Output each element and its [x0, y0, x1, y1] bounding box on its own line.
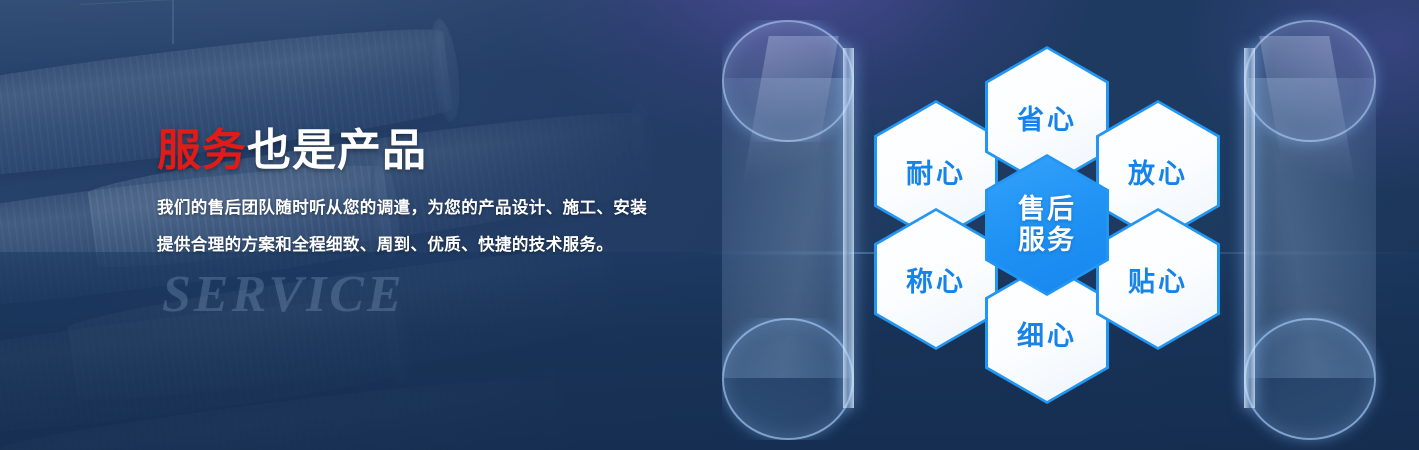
hexagon-label: 耐心: [906, 152, 966, 191]
hexagon-bottom-right[interactable]: 贴心: [1096, 208, 1220, 350]
hexagon-center-label: 售后服务: [1018, 194, 1076, 256]
subcopy-line-1: 我们的售后团队随时听从您的调遣，为您的产品设计、施工、安装: [157, 197, 727, 219]
hexagon-bottom-left[interactable]: 称心: [874, 208, 998, 350]
hexagon-center[interactable]: 售后服务: [985, 154, 1109, 296]
headline-highlight: 服务: [157, 126, 247, 175]
glass-cylinder-left: [700, 30, 880, 420]
hexagon-center-line-2: 服务: [1018, 225, 1076, 255]
page-title: 服务也是产品: [157, 126, 727, 175]
hexagon-label: 细心: [1017, 314, 1077, 353]
hexagon-label: 贴心: [1128, 260, 1188, 299]
subcopy: 我们的售后团队随时听从您的调遣，为您的产品设计、施工、安装 提供合理的方案和全程…: [157, 197, 727, 256]
headline-rest: 也是产品: [247, 126, 427, 175]
hexagon-label: 称心: [906, 260, 966, 299]
hexagon-center-line-1: 售后: [1018, 194, 1076, 224]
service-banner: 服务也是产品 我们的售后团队随时听从您的调遣，为您的产品设计、施工、安装 提供合…: [0, 0, 1419, 450]
hexagon-cluster: 耐心 称心 省心 细心 放心 贴心 售后服务: [874, 46, 1220, 404]
copy-block: 服务也是产品 我们的售后团队随时听从您的调遣，为您的产品设计、施工、安装 提供合…: [157, 126, 727, 270]
subcopy-line-2: 提供合理的方案和全程细致、周到、优质、快捷的技术服务。: [157, 234, 727, 256]
hexagon-label: 放心: [1128, 152, 1188, 191]
hexagon-label: 省心: [1017, 98, 1077, 137]
utility-pole-icon: [172, 0, 174, 44]
glass-cylinder-right: [1218, 30, 1398, 420]
